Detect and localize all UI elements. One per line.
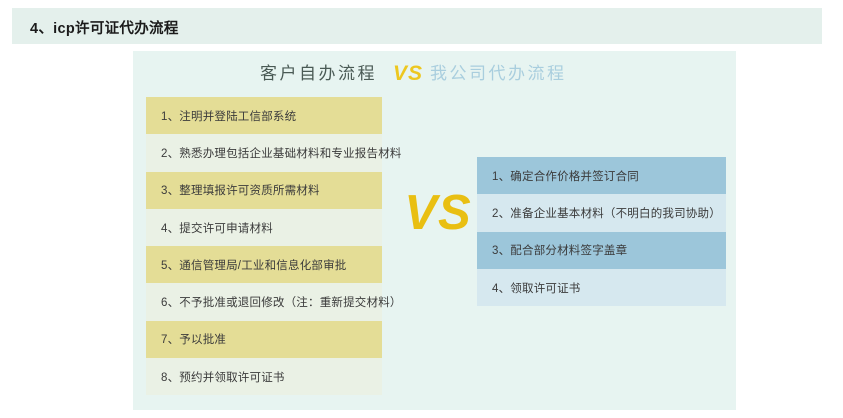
list-item: 3、整理填报许可资质所需材料 [146, 172, 382, 209]
list-item: 1、确定合作价格并签订合同 [477, 157, 726, 194]
heading-self-service: 客户自办流程 [260, 60, 377, 88]
list-item: 2、准备企业基本材料（不明白的我司协助） [477, 194, 726, 231]
list-item: 1、注明并登陆工信部系统 [146, 97, 382, 134]
list-item: 4、领取许可证书 [477, 269, 726, 306]
list-item: 3、配合部分材料签字盖章 [477, 232, 726, 269]
page-title: 4、icp许可证代办流程 [30, 17, 179, 38]
agency-flow-list: 1、确定合作价格并签订合同 2、准备企业基本材料（不明白的我司协助） 3、配合部… [477, 157, 726, 306]
heading-vs-label: VS [393, 60, 423, 88]
list-item: 8、预约并领取许可证书 [146, 358, 382, 395]
list-item: 5、通信管理局/工业和信息化部审批 [146, 246, 382, 283]
list-item: 4、提交许可申请材料 [146, 209, 382, 246]
list-item: 6、不予批准或退回修改（注：重新提交材料） [146, 283, 382, 320]
comparison-diagram-panel: 客户自办流程 VS 我公司代办流程 1、注明并登陆工信部系统 2、熟悉办理包括企… [133, 51, 736, 410]
self-service-flow-list: 1、注明并登陆工信部系统 2、熟悉办理包括企业基础材料和专业报告材料 3、整理填… [146, 97, 382, 395]
versus-label: VS [398, 189, 478, 238]
heading-agency-service: 我公司代办流程 [430, 60, 567, 88]
diagram-heading-row: 客户自办流程 VS 我公司代办流程 [133, 60, 736, 90]
section-header-band: 4、icp许可证代办流程 [12, 8, 822, 44]
list-item: 2、熟悉办理包括企业基础材料和专业报告材料 [146, 134, 382, 171]
list-item: 7、予以批准 [146, 321, 382, 358]
